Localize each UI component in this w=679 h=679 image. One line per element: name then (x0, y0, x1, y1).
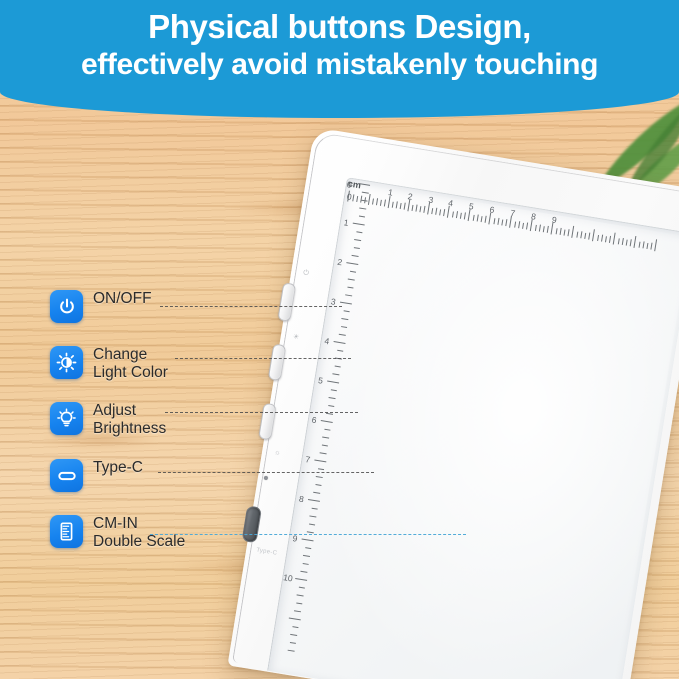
feature-item-type-c[interactable]: Type-C (50, 459, 143, 492)
brightness-symbol-icon: ☼ (274, 449, 281, 457)
feature-label-type-c: Type-C (93, 459, 143, 477)
feature-label-brightness: Adjust Brightness (93, 402, 166, 437)
feature-label-line1: ON/OFF (93, 290, 152, 307)
ruler-left-number: 10 (283, 572, 294, 583)
lightbulb-icon (50, 402, 83, 435)
feature-label-double-scale: CM-IN Double Scale (93, 515, 185, 550)
connector-line-power (160, 306, 342, 307)
ruler-top-number: 6 (489, 204, 495, 215)
feature-label-line1: Change (93, 346, 147, 363)
ruler-left-number: 4 (324, 336, 330, 347)
ruler-top-number: 5 (468, 201, 474, 212)
feature-label-line2: Brightness (93, 420, 166, 438)
ruler-left-number: 8 (298, 494, 304, 505)
ruler-top-number: 8 (530, 211, 536, 222)
usb-c-port-icon (50, 459, 83, 492)
ruler-icon (50, 515, 83, 548)
feature-item-brightness[interactable]: Adjust Brightness (50, 402, 166, 437)
feature-label-line2: Double Scale (93, 533, 185, 551)
feature-label-line1: Type-C (93, 459, 143, 476)
feature-label-line2: Light Color (93, 364, 168, 382)
feature-label-line1: CM-IN (93, 515, 138, 532)
header-text-block: Physical buttons Design, effectively avo… (0, 0, 679, 96)
ruler-left-number: 5 (317, 375, 323, 386)
ruler-left-number: 0 (346, 191, 352, 202)
feature-item-double-scale[interactable]: CM-IN Double Scale (50, 515, 185, 550)
infographic-canvas: cm (0, 0, 679, 679)
feature-item-light-color[interactable]: Change Light Color (50, 346, 168, 381)
power-icon (50, 290, 83, 323)
color-symbol-icon: ☀ (292, 333, 299, 342)
ruler-top-number: 7 (510, 208, 516, 219)
ruler-top-number: 3 (428, 194, 434, 205)
feature-label-line1: Adjust (93, 402, 136, 419)
headline-line-2: effectively avoid mistakenly touching (81, 47, 598, 83)
ruler-top-number: 4 (447, 198, 453, 209)
ruler-top-number: 1 (387, 187, 393, 198)
brightness-contrast-icon (50, 346, 83, 379)
connector-line-light-color (175, 358, 351, 359)
ruler-top-number: 9 (551, 214, 557, 225)
ruler-left-number: 7 (305, 454, 311, 465)
ruler-left-number: 2 (337, 257, 343, 268)
power-symbol-icon: ⏻ (302, 269, 309, 278)
ruler-top-number: 2 (407, 191, 413, 202)
headline-line-1: Physical buttons Design, (148, 8, 531, 46)
ruler-left-number: 1 (343, 217, 349, 228)
feature-label-light-color: Change Light Color (93, 346, 168, 381)
feature-label-power: ON/OFF (93, 290, 152, 308)
header-banner: Physical buttons Design, effectively avo… (0, 0, 679, 118)
feature-item-power[interactable]: ON/OFF (50, 290, 152, 323)
connector-line-double-scale (150, 534, 466, 535)
device-container: cm (290, 128, 679, 679)
connector-line-brightness (165, 412, 358, 413)
ruler-left-number: 6 (311, 415, 317, 426)
connector-line-type-c (158, 472, 374, 473)
